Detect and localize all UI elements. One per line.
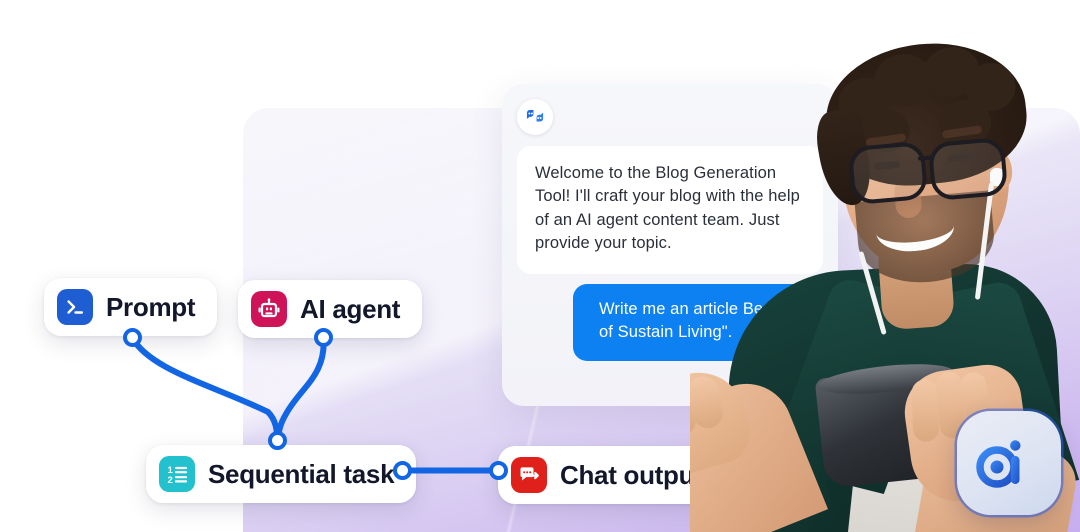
chatbot-icon: [524, 106, 546, 128]
chat-send-icon: [511, 457, 547, 493]
robot-icon: [251, 291, 287, 327]
ai-logo-icon: [973, 435, 1045, 491]
person-glasses: [848, 140, 1018, 194]
port-chatoutput-input[interactable]: [489, 461, 508, 480]
port-sequential-output[interactable]: [393, 461, 412, 480]
ai-logo-badge: [957, 411, 1061, 515]
node-sequential-task[interactable]: 1 2 Sequential task: [146, 445, 416, 503]
node-ai-agent-label: AI agent: [300, 294, 400, 325]
chatbot-avatar: [517, 99, 553, 135]
node-prompt-label: Prompt: [106, 292, 195, 323]
port-agent-output[interactable]: [314, 328, 333, 347]
port-prompt-output[interactable]: [123, 328, 142, 347]
screenshot-stage: Welcome to the Blog Generation Tool! I'l…: [0, 0, 1080, 532]
node-sequential-task-label: Sequential task: [208, 459, 394, 490]
node-chat-output-label: Chat output: [560, 460, 703, 491]
numbered-list-icon: 1 2: [159, 456, 195, 492]
terminal-prompt-icon: [57, 289, 93, 325]
svg-text:2: 2: [168, 475, 173, 486]
node-ai-agent[interactable]: AI agent: [238, 280, 422, 338]
port-sequential-input[interactable]: [268, 431, 287, 450]
